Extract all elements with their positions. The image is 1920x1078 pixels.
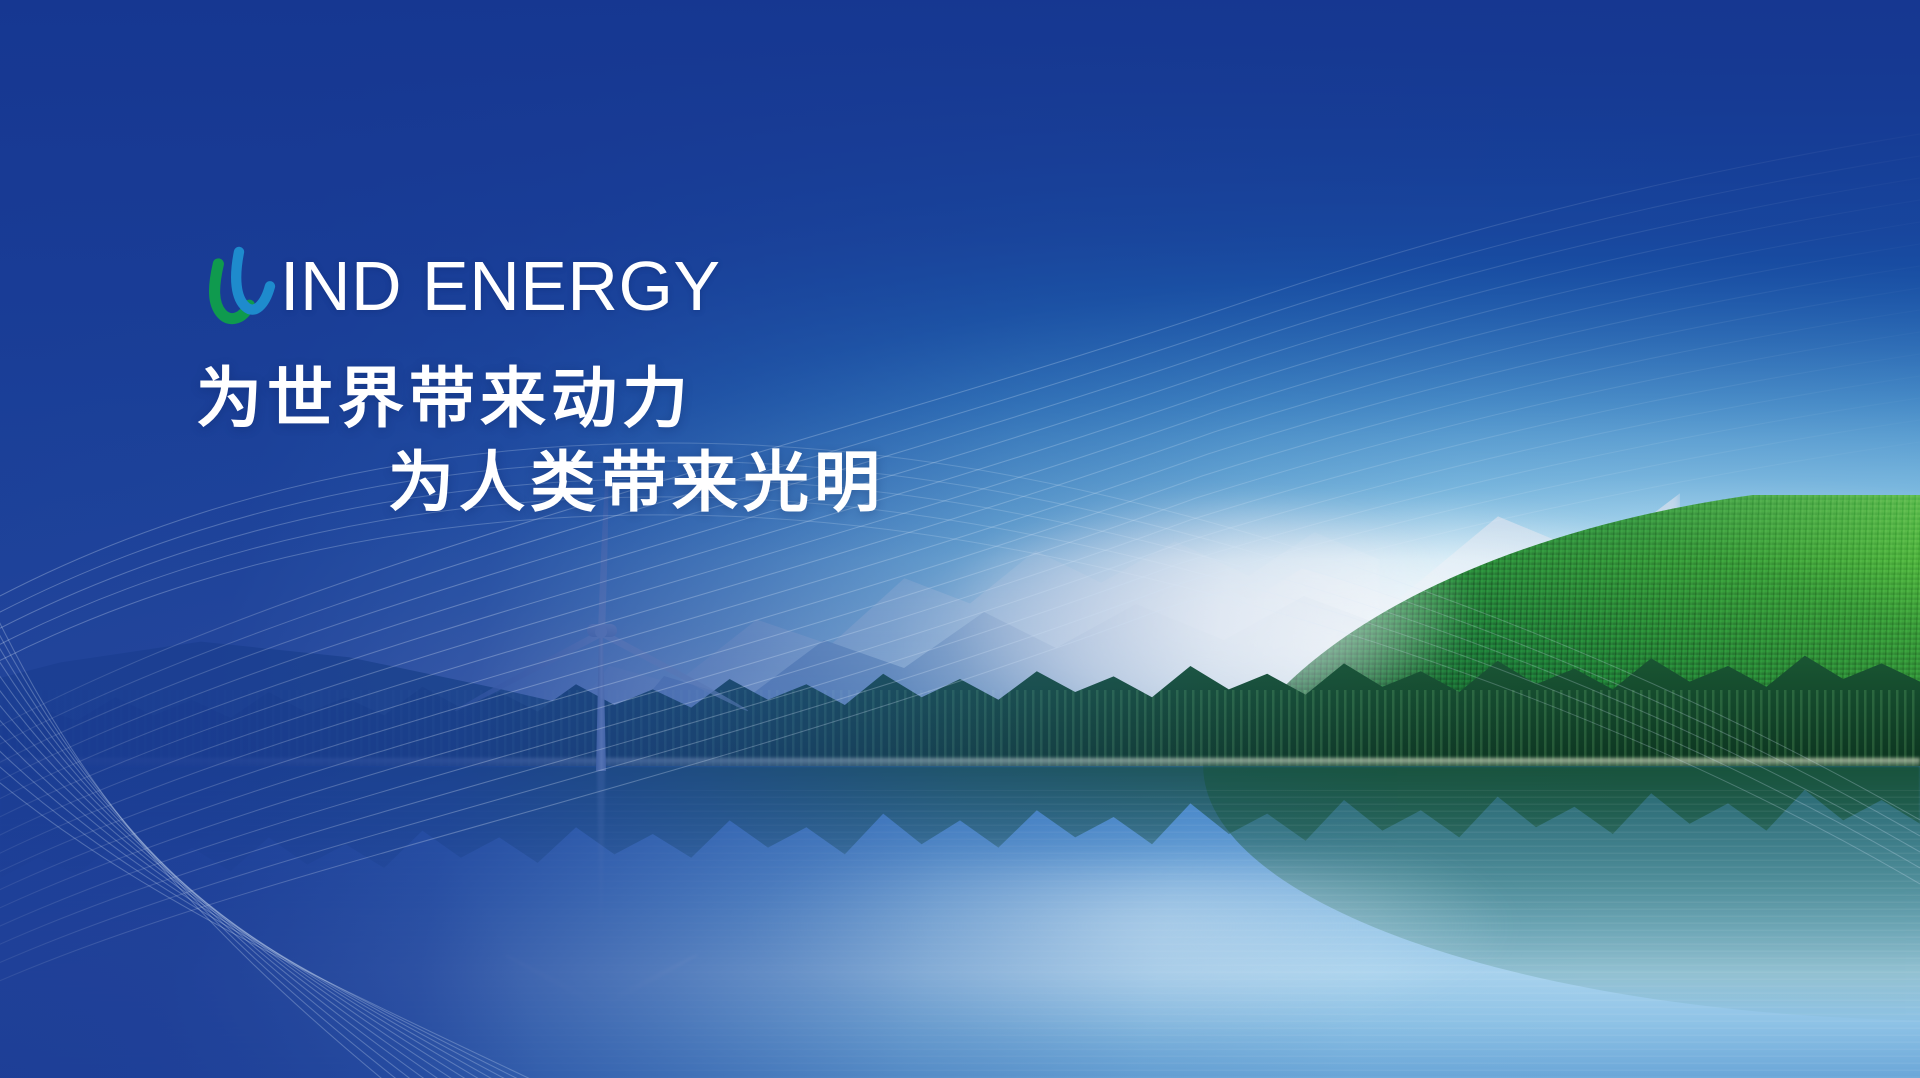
brand-lockup: IND ENERGY: [196, 238, 1296, 334]
tagline-block: 为世界带来动力 为人类带来光明: [196, 356, 1296, 525]
hero-copy: IND ENERGY 为世界带来动力 为人类带来光明: [196, 238, 1296, 525]
lake-highlight: [680, 860, 1580, 1078]
hero-banner: IND ENERGY 为世界带来动力 为人类带来光明: [0, 0, 1920, 1078]
tagline-line-1: 为世界带来动力: [196, 356, 1296, 440]
brand-wordmark: IND ENERGY: [280, 251, 721, 321]
turbine-hub: [595, 626, 607, 638]
tagline-line-2: 为人类带来光明: [196, 440, 1296, 524]
background-photo: [0, 0, 1920, 1078]
wind-w-swoosh-icon: [196, 245, 282, 331]
